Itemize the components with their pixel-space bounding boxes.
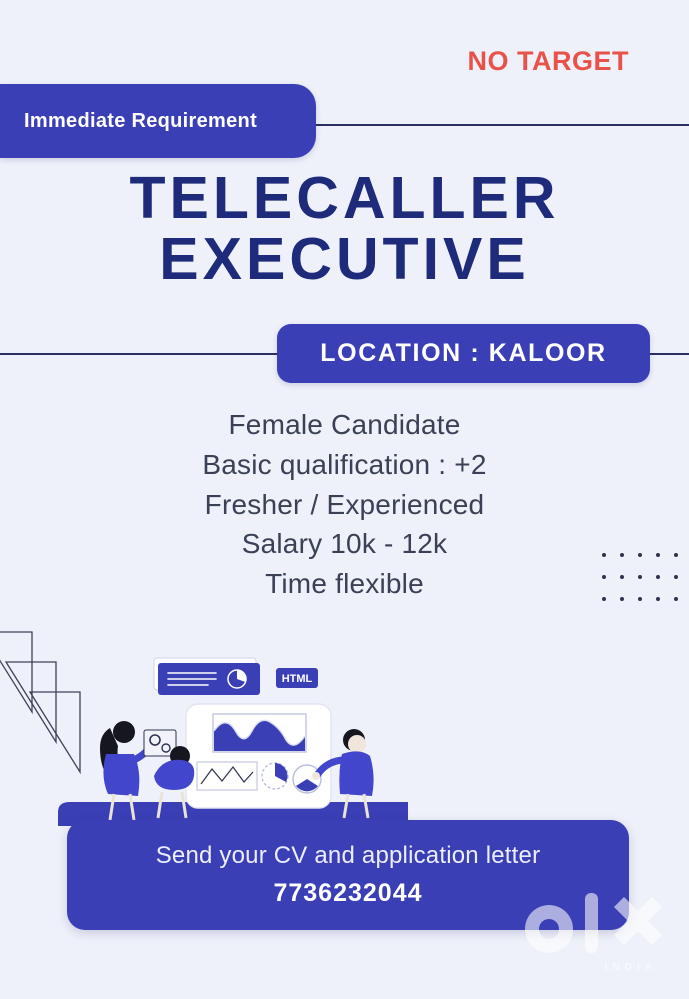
list-item: Female Candidate [0, 405, 689, 445]
dot [620, 553, 624, 557]
list-item: Time flexible [0, 564, 689, 604]
triangle-outline [6, 662, 56, 742]
html-tag-label: HTML [282, 673, 313, 685]
dot [656, 597, 660, 601]
immediate-requirement-badge: Immediate Requirement [0, 84, 316, 158]
dot [674, 597, 678, 601]
job-poster: NO TARGET Immediate Requirement TELECALL… [0, 0, 689, 999]
immediate-requirement-label: Immediate Requirement [0, 110, 257, 133]
olx-letter-x [614, 897, 662, 945]
torso [154, 760, 194, 790]
dashboard-card-top [154, 658, 260, 695]
olx-watermark [519, 891, 671, 969]
cta-message: Send your CV and application letter [156, 842, 541, 870]
dot [620, 575, 624, 579]
analytics-team-illustration: HTML [58, 636, 408, 826]
divider-location-right [650, 353, 689, 355]
dot [674, 553, 678, 557]
page-title: TELECALLER EXECUTIVE [0, 168, 689, 290]
divider-top [300, 124, 689, 126]
dot [638, 575, 642, 579]
dot [674, 575, 678, 579]
no-target-label: NO TARGET [468, 48, 630, 75]
hand [312, 772, 320, 780]
divider-location-left [0, 353, 280, 355]
dot [602, 553, 606, 557]
line-chart [197, 762, 257, 790]
olx-watermark-region: INDIA [605, 962, 657, 973]
list-item: Basic qualification : +2 [0, 445, 689, 485]
dot [638, 553, 642, 557]
location-label: LOCATION : KALOOR [320, 339, 606, 368]
dashboard-card-main [186, 704, 331, 808]
olx-letter-o [525, 905, 573, 953]
dot [656, 575, 660, 579]
dot [656, 553, 660, 557]
requirements-list: Female Candidate Basic qualification : +… [0, 405, 689, 604]
title-line-2: EXECUTIVE [0, 229, 689, 290]
dot [602, 575, 606, 579]
triangle-outline [0, 632, 32, 712]
dot [602, 597, 606, 601]
dot-grid-decoration [602, 553, 689, 619]
dot [620, 597, 624, 601]
list-item: Salary 10k - 12k [0, 524, 689, 564]
location-badge: LOCATION : KALOOR [277, 324, 650, 383]
olx-letter-l [585, 893, 598, 953]
cta-phone-number: 7736232044 [273, 879, 422, 908]
face [348, 735, 366, 753]
title-line-1: TELECALLER [129, 165, 559, 231]
html-tag: HTML [276, 668, 318, 688]
list-item: Fresher / Experienced [0, 485, 689, 525]
dot [638, 597, 642, 601]
